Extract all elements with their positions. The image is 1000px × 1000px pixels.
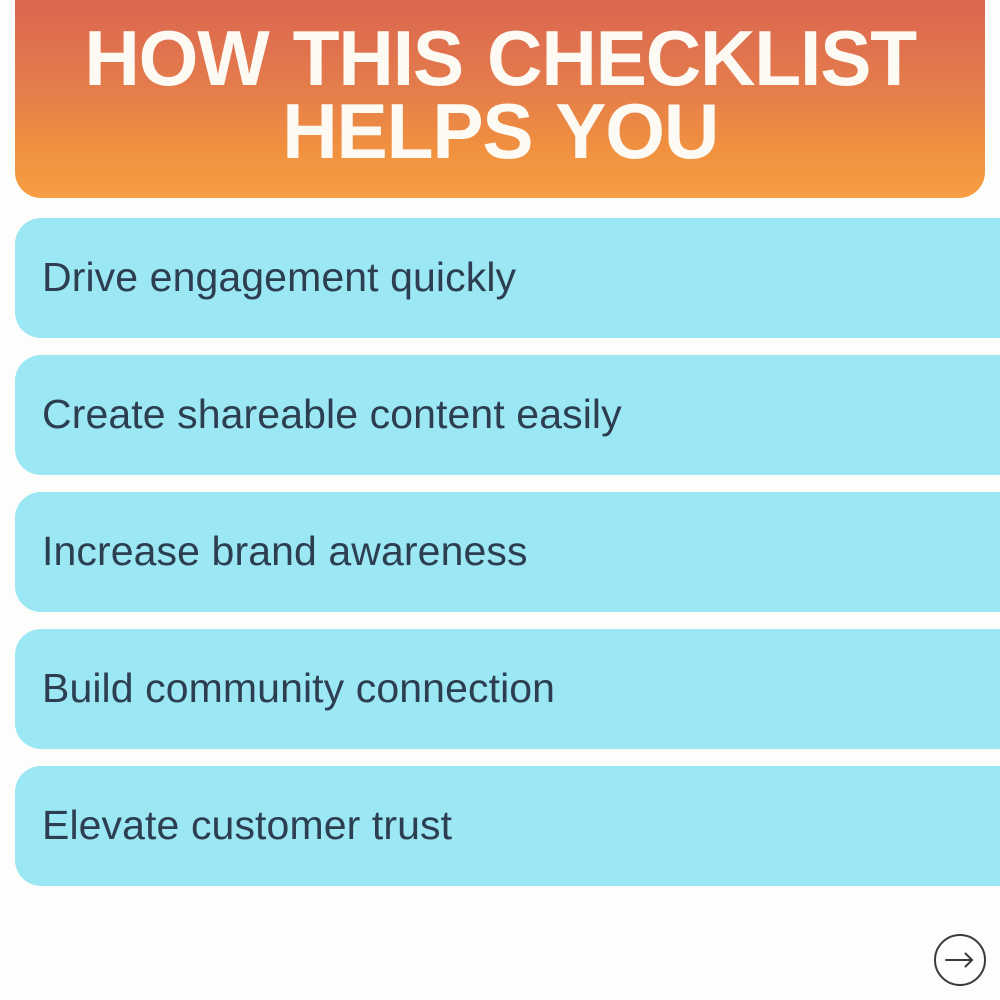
list-item[interactable]: Increase brand awareness [15,492,1000,612]
checklist-item-label: Build community connection [42,666,555,711]
header-banner: HOW THIS CHECKLIST HELPS YOU [15,0,985,198]
checklist-item-label: Elevate customer trust [42,803,452,848]
arrow-right-icon [945,951,975,969]
slide-canvas: HOW THIS CHECKLIST HELPS YOU Drive engag… [0,0,1000,1000]
checklist-item-label: Create shareable content easily [42,392,622,437]
checklist-list: Drive engagement quickly Create shareabl… [0,218,1000,903]
page-title: HOW THIS CHECKLIST HELPS YOU [84,22,916,167]
list-item[interactable]: Create shareable content easily [15,355,1000,475]
next-button[interactable] [934,934,986,986]
list-item[interactable]: Drive engagement quickly [15,218,1000,338]
checklist-item-label: Drive engagement quickly [42,255,516,300]
checklist-item-label: Increase brand awareness [42,529,528,574]
list-item[interactable]: Build community connection [15,629,1000,749]
list-item[interactable]: Elevate customer trust [15,766,1000,886]
